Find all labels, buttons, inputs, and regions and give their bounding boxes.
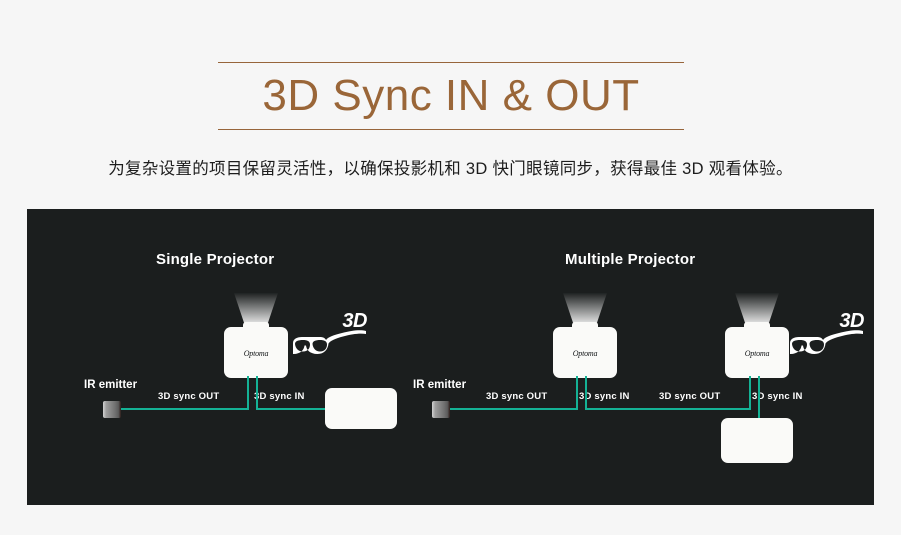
cable-projector-in-2b (758, 376, 760, 420)
cable-emitter-to-projector-1 (121, 408, 249, 410)
projector-brand-label: Optoma (725, 349, 789, 358)
title-rule-bottom (218, 129, 684, 130)
title-block: 3D Sync IN & OUT (218, 62, 684, 130)
projector-lens-icon (572, 322, 598, 330)
ir-emitter-device-1 (103, 401, 121, 418)
page-subtitle: 为复杂设置的项目保留灵活性，以确保投影机和 3D 快门眼镜同步，获得最佳 3D … (0, 155, 901, 183)
projector-lens-icon (744, 322, 770, 330)
shutter-glasses-2: 3D (787, 313, 865, 359)
cable-projector-in-2a (585, 376, 587, 408)
sync-receiver-box-1 (325, 388, 397, 429)
page-title: 3D Sync IN & OUT (218, 63, 684, 129)
cable-projector-out-2b (749, 376, 751, 410)
cable-label-sync-out-2b: 3D sync OUT (659, 391, 720, 402)
section-heading-multiple-projector: Multiple Projector (565, 251, 695, 268)
ir-emitter-device-2 (432, 401, 450, 418)
glasses-icon (290, 325, 368, 359)
projector-2b: Optoma (725, 327, 789, 378)
ir-emitter-label-1: IR emitter (84, 379, 137, 391)
cable-projector-out-1 (247, 376, 249, 410)
cable-label-sync-out-1: 3D sync OUT (158, 391, 219, 402)
projector-lens-icon (243, 322, 269, 330)
diagram-panel: Single Projector Optoma 3D IR emitter 3D… (27, 209, 874, 505)
glasses-icon (787, 325, 865, 359)
projector-brand-label: Optoma (553, 349, 617, 358)
projector-2a: Optoma (553, 327, 617, 378)
cable-label-sync-out-2a: 3D sync OUT (486, 391, 547, 402)
projector-brand-label: Optoma (224, 349, 288, 358)
cable-emitter-to-projector-2a (450, 408, 578, 410)
cable-label-sync-in-1: 3D sync IN (254, 391, 305, 402)
projector-1: Optoma (224, 327, 288, 378)
section-heading-single-projector: Single Projector (156, 251, 274, 268)
cable-projector-a-to-b (585, 408, 751, 410)
ir-emitter-label-2: IR emitter (413, 379, 466, 391)
sync-receiver-box-2 (721, 418, 793, 463)
cable-projector-out-2a (576, 376, 578, 410)
shutter-glasses-1: 3D (290, 313, 368, 359)
cable-projector-in-1 (256, 376, 258, 408)
page-header: 3D Sync IN & OUT 为复杂设置的项目保留灵活性，以确保投影机和 3… (0, 0, 901, 209)
